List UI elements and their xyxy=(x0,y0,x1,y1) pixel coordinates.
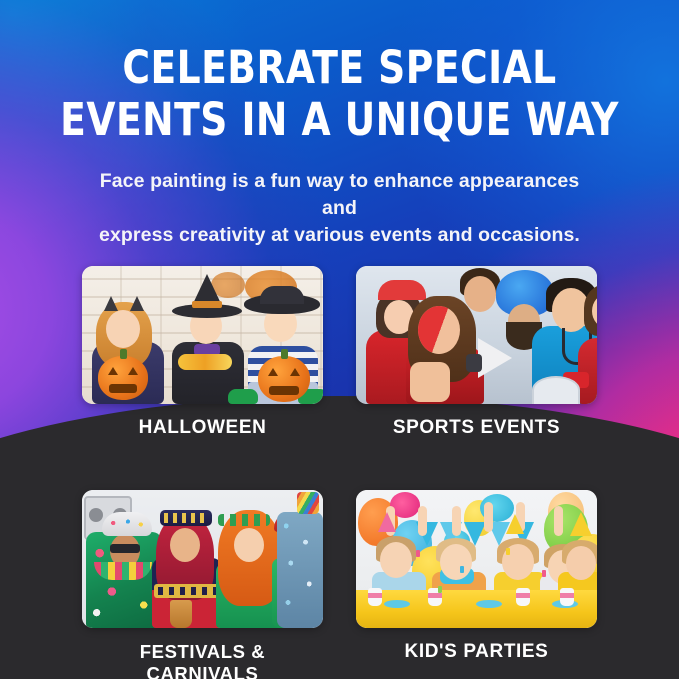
header-block: CELEBRATE SPECIAL EVENTS IN A UNIQUE WAY… xyxy=(0,42,679,249)
party-plate xyxy=(384,600,410,608)
card-image-frame[interactable] xyxy=(82,490,323,628)
subtitle-line-2: express creativity at various events and… xyxy=(87,222,592,249)
sports-photo xyxy=(356,266,597,404)
jack-o-lantern-icon xyxy=(98,356,148,400)
jack-o-lantern-icon xyxy=(258,356,310,402)
reveler-face xyxy=(234,528,264,562)
raised-hand xyxy=(410,362,450,402)
sequin-outfit xyxy=(277,512,323,628)
card-image-frame[interactable] xyxy=(356,490,597,628)
fan-body-red xyxy=(578,338,597,404)
witch-hat-icon xyxy=(172,274,242,318)
event-card-halloween[interactable]: HALLOWEEN xyxy=(82,266,323,439)
ball xyxy=(532,376,580,404)
party-hat-icon xyxy=(378,512,396,532)
ivy-crown-icon xyxy=(218,514,270,526)
child-face xyxy=(106,310,140,348)
bucket-hat-pattern xyxy=(104,516,150,530)
candy-pile xyxy=(178,354,232,370)
drink-glass-icon xyxy=(170,600,192,628)
card-image-frame[interactable] xyxy=(356,266,597,404)
event-card-grid: HALLOWEEN xyxy=(0,266,679,679)
child-witch-costume xyxy=(164,278,250,404)
party-plate xyxy=(476,600,502,608)
reveler-face xyxy=(170,528,200,562)
megaphone-icon xyxy=(466,342,512,382)
event-card-festivals-carnivals[interactable]: FESTIVALS & CARNIVALS xyxy=(82,490,323,679)
page-subtitle: Face painting is a fun way to enhance ap… xyxy=(87,168,592,249)
card-row-bottom: FESTIVALS & CARNIVALS xyxy=(0,490,679,679)
rainbow-flag-icon xyxy=(297,492,319,514)
face-paint-red xyxy=(418,306,460,354)
halloween-photo xyxy=(82,266,323,404)
cat-ears-icon xyxy=(104,296,144,312)
festival-photo xyxy=(82,490,323,628)
card-caption-halloween: HALLOWEEN xyxy=(82,417,323,439)
card-row-top: HALLOWEEN xyxy=(0,266,679,439)
page-title: CELEBRATE SPECIAL EVENTS IN A UNIQUE WAY xyxy=(24,42,655,146)
headline-line-1: CELEBRATE SPECIAL xyxy=(122,41,556,94)
card-caption-sports-events: SPORTS EVENTS xyxy=(356,417,597,439)
red-cap-icon xyxy=(378,280,426,300)
flower-lei-icon xyxy=(94,562,152,580)
party-hat-icon xyxy=(506,514,524,534)
kids-party-photo xyxy=(356,490,597,628)
headdress-pattern xyxy=(164,513,208,523)
card-caption-kids-parties: KID'S PARTIES xyxy=(356,641,597,663)
card-caption-festivals-carnivals: FESTIVALS & CARNIVALS xyxy=(82,641,323,679)
poster-canvas: CELEBRATE SPECIAL EVENTS IN A UNIQUE WAY… xyxy=(0,0,679,679)
raised-arm xyxy=(484,502,493,532)
subtitle-line-1: Face painting is a fun way to enhance ap… xyxy=(87,168,592,222)
belt-pattern xyxy=(158,587,216,595)
headline-line-2: EVENTS IN A UNIQUE WAY xyxy=(24,94,655,146)
pirate-hat-icon xyxy=(244,282,320,316)
sunglasses-icon xyxy=(110,544,140,553)
card-image-frame[interactable] xyxy=(82,266,323,404)
party-hat-icon xyxy=(570,512,592,536)
green-shoe xyxy=(228,389,258,404)
fan-face xyxy=(464,276,496,312)
event-card-sports-events[interactable]: SPORTS EVENTS xyxy=(356,266,597,439)
event-card-kids-parties[interactable]: KID'S PARTIES xyxy=(356,490,597,679)
